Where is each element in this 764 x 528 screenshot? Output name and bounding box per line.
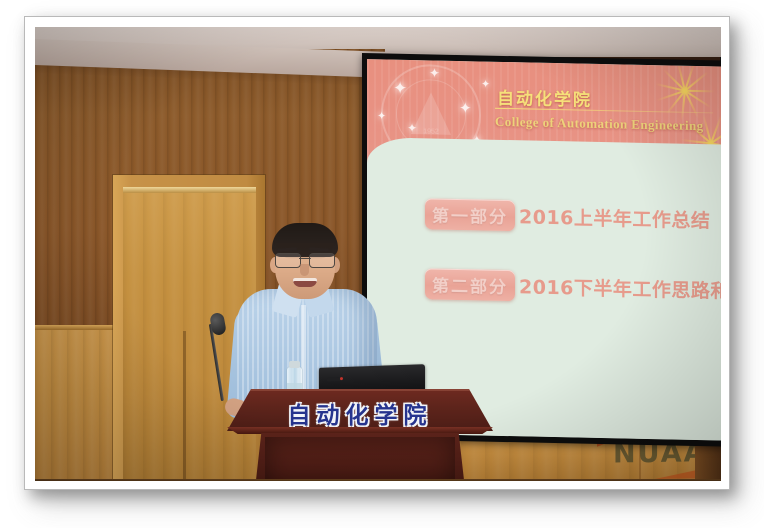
photograph: NUAA 1952 N U A A ✦ ✦ ✦ ✦ ✦ ✦ (35, 27, 721, 481)
bottle-cap (289, 361, 300, 368)
floor-line (35, 479, 721, 481)
sparkle-icon: ✦ (407, 122, 417, 134)
slide-header-band: 1952 N U A A ✦ ✦ ✦ ✦ ✦ ✦ ✦ (367, 59, 721, 178)
podium-lip (227, 427, 493, 434)
lens-right (309, 253, 335, 268)
agenda-text: 2016上半年工作总结 (519, 202, 710, 233)
lens-left (275, 253, 301, 268)
slide-title-cn: 自动化学院 (497, 84, 592, 111)
door-seam (183, 331, 186, 481)
slide-agenda-row: 第一部分 2016上半年工作总结 (425, 198, 710, 235)
speaker-mouth (293, 278, 317, 287)
podium-nameplate-text: 自动化学院 (227, 396, 493, 430)
speaker-hair (272, 223, 338, 257)
sparkle-icon: ✦ (459, 101, 472, 116)
seal-year: 1952 (383, 127, 479, 136)
sparkle-icon: ✦ (377, 111, 386, 122)
lectern-podium: 自动化学院 (227, 389, 493, 481)
photo-frame: NUAA 1952 N U A A ✦ ✦ ✦ ✦ ✦ ✦ (24, 16, 730, 490)
agenda-badge: 第二部分 (425, 268, 515, 301)
agenda-badge: 第一部分 (425, 198, 515, 231)
podium-column (255, 433, 465, 481)
speaker-nose (300, 264, 309, 276)
agenda-text: 2016下半年工作思路和工 (519, 272, 721, 304)
sparkle-icon: ✦ (481, 79, 490, 90)
door-transom-strip (123, 187, 256, 193)
sparkle-icon: ✦ (393, 80, 407, 97)
sparkle-icon: ✦ (429, 66, 440, 79)
